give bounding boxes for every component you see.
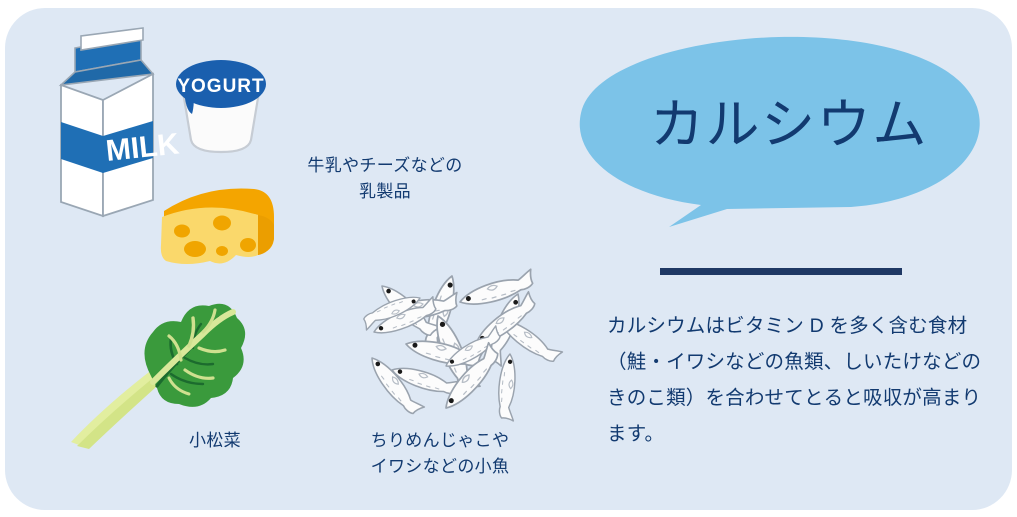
caption-komatsuna: 小松菜 bbox=[125, 428, 305, 454]
yogurt-cup-illustration: YOGURT bbox=[165, 48, 280, 163]
infographic-root: MILK YOGURT bbox=[0, 0, 1017, 517]
komatsuna-illustration bbox=[53, 290, 253, 450]
section-divider bbox=[660, 268, 902, 275]
small-fish-illustration bbox=[350, 258, 545, 423]
speech-bubble: カルシウム bbox=[565, 33, 995, 233]
bubble-title: カルシウム bbox=[565, 33, 995, 205]
caption-small-fish: ちりめんじゃこや イワシなどの小魚 bbox=[335, 428, 545, 481]
caption-dairy: 牛乳やチーズなどの 乳製品 bbox=[260, 153, 510, 206]
content-panel: MILK YOGURT bbox=[5, 8, 1012, 510]
yogurt-lid-label: YOGURT bbox=[177, 76, 264, 97]
body-paragraph: カルシウムはビタミン D を多く含む食材（鮭・イワシなどの魚類、しいたけなどのき… bbox=[607, 308, 999, 452]
